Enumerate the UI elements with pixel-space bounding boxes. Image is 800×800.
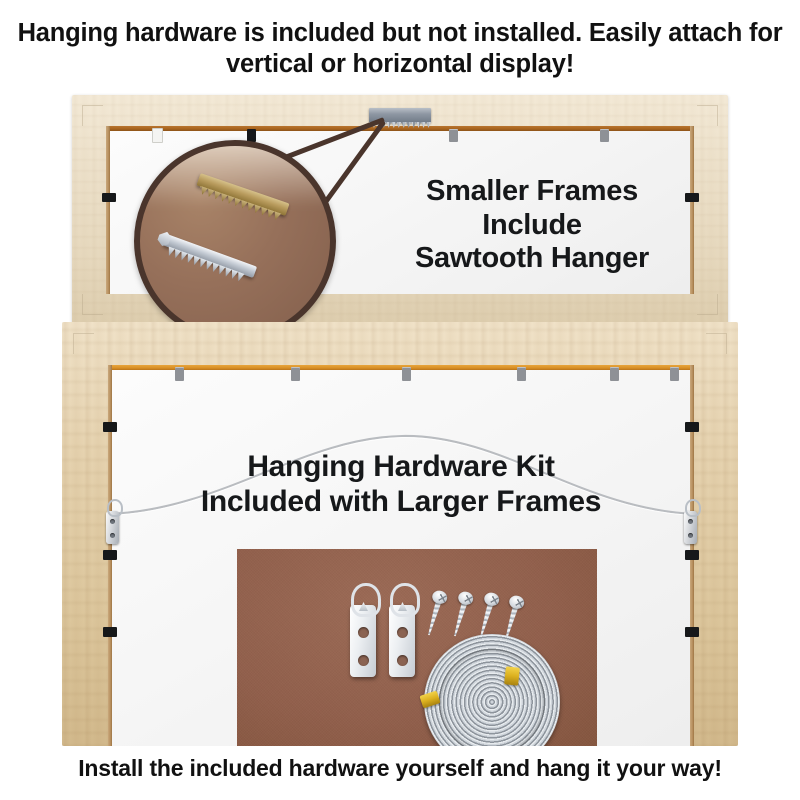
- d-ring-hole: [688, 519, 693, 524]
- corner-mark-bottom-left: [82, 294, 103, 315]
- kit-d-ring-hole: [358, 627, 369, 638]
- kit-d-ring-loop: [351, 583, 381, 617]
- kit-d-ring-hole: [397, 627, 408, 638]
- smaller-frame-caption: Smaller Frames Include Sawtooth Hanger: [372, 175, 692, 276]
- infographic-canvas: Hanging hardware is included but not ins…: [0, 0, 800, 800]
- larger-frame-back: Hanging Hardware Kit Included with Large…: [62, 322, 738, 746]
- clip-black: [685, 627, 699, 637]
- clip-grey: [291, 367, 300, 381]
- clip-grey: [402, 367, 411, 381]
- steel-sawtooth-hanger: [163, 234, 257, 278]
- corner-mark-bottom-right: [697, 294, 718, 315]
- clip-black: [685, 550, 699, 560]
- clip-grey: [449, 129, 458, 142]
- clip-black: [103, 627, 117, 637]
- hanging-hardware-kit-photo: [237, 549, 597, 746]
- clip-black: [103, 422, 117, 432]
- clip-white: [152, 128, 163, 143]
- wire-tab-yellow: [504, 666, 520, 685]
- kit-d-ring-hole: [358, 655, 369, 666]
- caption-line: Include: [372, 209, 692, 243]
- caption-line: Smaller Frames: [372, 175, 692, 209]
- kit-d-ring-loop: [390, 583, 420, 617]
- d-ring-hole: [688, 533, 693, 538]
- coil-inner-edge: [439, 649, 545, 746]
- clip-grey: [670, 367, 679, 381]
- d-ring-hole: [110, 519, 115, 524]
- d-ring-hole: [110, 533, 115, 538]
- corner-mark-top-right: [706, 333, 727, 354]
- larger-frame-caption: Hanging Hardware Kit Included with Large…: [112, 450, 690, 520]
- clip-grey: [600, 129, 609, 142]
- smaller-frame-back: Smaller Frames Include Sawtooth Hanger: [72, 95, 728, 325]
- corner-mark-top-left: [82, 105, 103, 126]
- clip-black: [685, 422, 699, 432]
- corner-mark-top-right: [697, 105, 718, 126]
- corner-mark-top-left: [73, 333, 94, 354]
- caption-line: Hanging Hardware Kit: [112, 450, 690, 485]
- clip-black: [102, 193, 116, 202]
- caption-line: Sawtooth Hanger: [372, 242, 692, 276]
- clip-grey: [175, 367, 184, 381]
- kit-d-ring-hanger: [389, 583, 415, 679]
- bottom-headline: Install the included hardware yourself a…: [0, 754, 800, 782]
- clip-grey: [517, 367, 526, 381]
- kit-d-ring-hanger: [350, 583, 376, 679]
- top-headline: Hanging hardware is included but not ins…: [0, 18, 800, 80]
- caption-line: Included with Larger Frames: [112, 485, 690, 520]
- kit-d-ring-hole: [397, 655, 408, 666]
- clip-black: [103, 550, 117, 560]
- sawtooth-hanger-closeup: [134, 140, 336, 342]
- clip-grey: [610, 367, 619, 381]
